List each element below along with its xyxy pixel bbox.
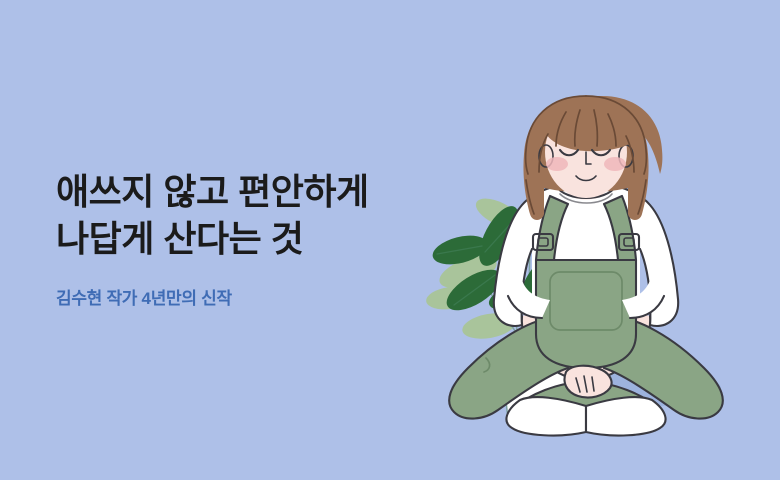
meditating-woman-illustration: .ol { fill:none; stroke:#3a3a42; stroke-… [390,90,780,480]
banner-text-block: 애쓰지 않고 편안하게 나답게 산다는 것 김수현 작가 4년만의 신작 [56,168,436,309]
promo-banner: 애쓰지 않고 편안하게 나답게 산다는 것 김수현 작가 4년만의 신작 .ol… [0,0,780,480]
banner-subtitle: 김수현 작가 4년만의 신작 [56,262,436,309]
hands [565,366,612,398]
page-title: 애쓰지 않고 편안하게 나답게 산다는 것 [56,168,436,262]
blush-left [546,157,568,171]
blush-right [604,157,626,171]
